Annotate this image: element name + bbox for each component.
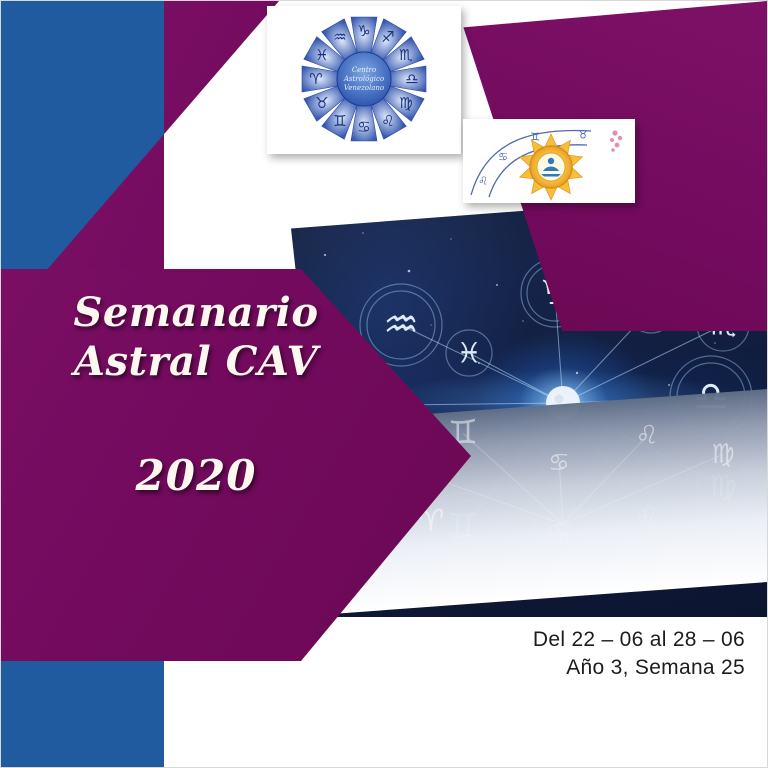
title-year: 2020	[61, 451, 331, 500]
logo-caption-line2: Astrológico	[343, 75, 384, 83]
sun-meditation-logo: ♌ ♋ ♊ ♉	[463, 119, 635, 203]
svg-text:♍: ♍	[711, 438, 734, 470]
issue-number: Año 3, Semana 25	[533, 654, 745, 682]
svg-text:♊: ♊	[530, 131, 540, 144]
logo-caption-line3: Venezolano	[344, 84, 384, 92]
title-line-1: Semanario	[61, 289, 331, 338]
svg-text:♑: ♑	[357, 22, 370, 40]
centro-astrologico-venezolano-logo: ♑ ♐ ♏ ♎ ♍ ♌ ♋ ♊ ♉ ♈ ♓ ♒ Centro Astrológi…	[267, 6, 461, 154]
svg-text:♋: ♋	[498, 151, 508, 164]
slide-title: Semanario Astral CAV	[61, 289, 331, 387]
svg-text:♋: ♋	[548, 447, 570, 477]
svg-text:♒: ♒	[383, 302, 419, 348]
title-line-2: Astral CAV	[61, 338, 331, 387]
svg-text:♈: ♈	[309, 70, 322, 88]
svg-text:♌: ♌	[381, 112, 394, 130]
svg-text:♊: ♊	[333, 112, 346, 130]
svg-text:♏: ♏	[399, 46, 413, 64]
svg-text:♍: ♍	[399, 94, 412, 112]
svg-text:♉: ♉	[578, 129, 588, 142]
zodiac-wheel-logo-icon: ♑ ♐ ♏ ♎ ♍ ♌ ♋ ♊ ♉ ♈ ♓ ♒ Centro Astrológi…	[267, 6, 461, 154]
svg-text:♓: ♓	[315, 46, 328, 64]
svg-text:♐: ♐	[381, 28, 394, 46]
svg-text:♌: ♌	[635, 420, 658, 452]
svg-text:♉: ♉	[315, 94, 328, 112]
issue-info: Del 22 – 06 al 28 – 06 Año 3, Semana 25	[533, 626, 745, 681]
cover-slide: ♒ ♓ ♑ ♐ ♏ ♎ ♍ ♌ ♋ ♊ ♉ ♈ ♊ ♉	[0, 0, 768, 768]
svg-text:♋: ♋	[357, 118, 370, 136]
svg-text:♒: ♒	[333, 28, 346, 46]
svg-text:♌: ♌	[478, 175, 488, 188]
sun-logo-icon: ♌ ♋ ♊ ♉	[463, 119, 635, 203]
svg-text:♎: ♎	[405, 70, 418, 88]
logo-caption-line1: Centro	[352, 66, 376, 74]
svg-text:♓: ♓	[456, 337, 481, 370]
issue-date-range: Del 22 – 06 al 28 – 06	[533, 626, 745, 654]
